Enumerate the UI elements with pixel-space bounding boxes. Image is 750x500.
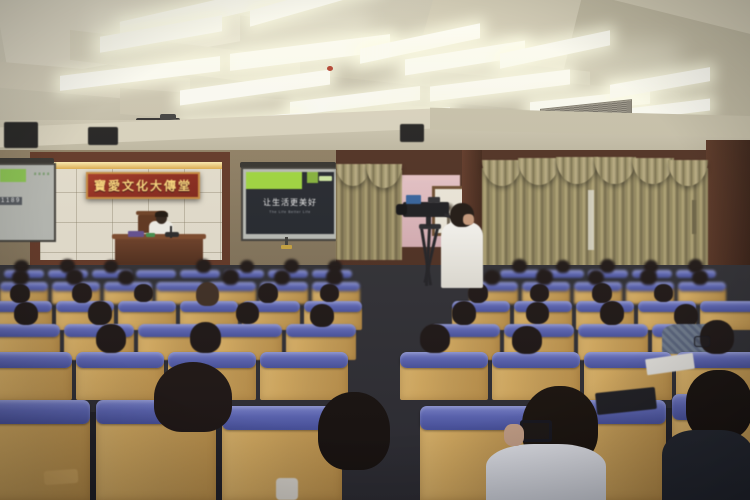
near-shoulder-shirt: [486, 444, 606, 500]
left-projection-screen: 8 8 8 8 1 1 8 9: [0, 163, 56, 242]
camera-lens: [396, 204, 407, 215]
ceiling-speaker-center: [88, 127, 118, 145]
calligraphy-plaque: 寶愛文化大傳堂: [86, 172, 200, 199]
ceiling-speaker-right: [400, 124, 424, 142]
video-camera: [403, 202, 449, 217]
audience-member: [196, 282, 219, 306]
podium-desk: [115, 237, 203, 265]
center-slide-subtext: The Life Better Life: [243, 210, 337, 214]
audience-member-near: [318, 392, 390, 470]
camera-operator-body: [441, 222, 483, 288]
podium-items: [128, 231, 144, 237]
left-screen-badge: 8 8 8 8: [34, 171, 50, 176]
cup: [276, 478, 298, 500]
seat-armrest: [44, 469, 79, 485]
center-slide-heading: 让生活更美好: [243, 197, 337, 208]
stage-gold-light-strip: [40, 162, 222, 169]
audience-member-near: [154, 362, 232, 432]
plaque-text: 寶愛文化大傳堂: [94, 177, 192, 194]
wood-column-right: [706, 140, 750, 280]
camera-viewfinder: [406, 195, 421, 204]
left-screen-text: 1 1 8 9: [0, 197, 22, 205]
ceiling-speaker-left: [4, 122, 38, 148]
center-projection-screen: 让生活更美好 The Life Better Life: [241, 167, 339, 241]
eyeglasses: [520, 420, 552, 442]
auditorium-photo: 寶愛文化大傳堂 8 8 8 8 1 1 8 9 让生活更美好 The Life …: [0, 0, 750, 500]
